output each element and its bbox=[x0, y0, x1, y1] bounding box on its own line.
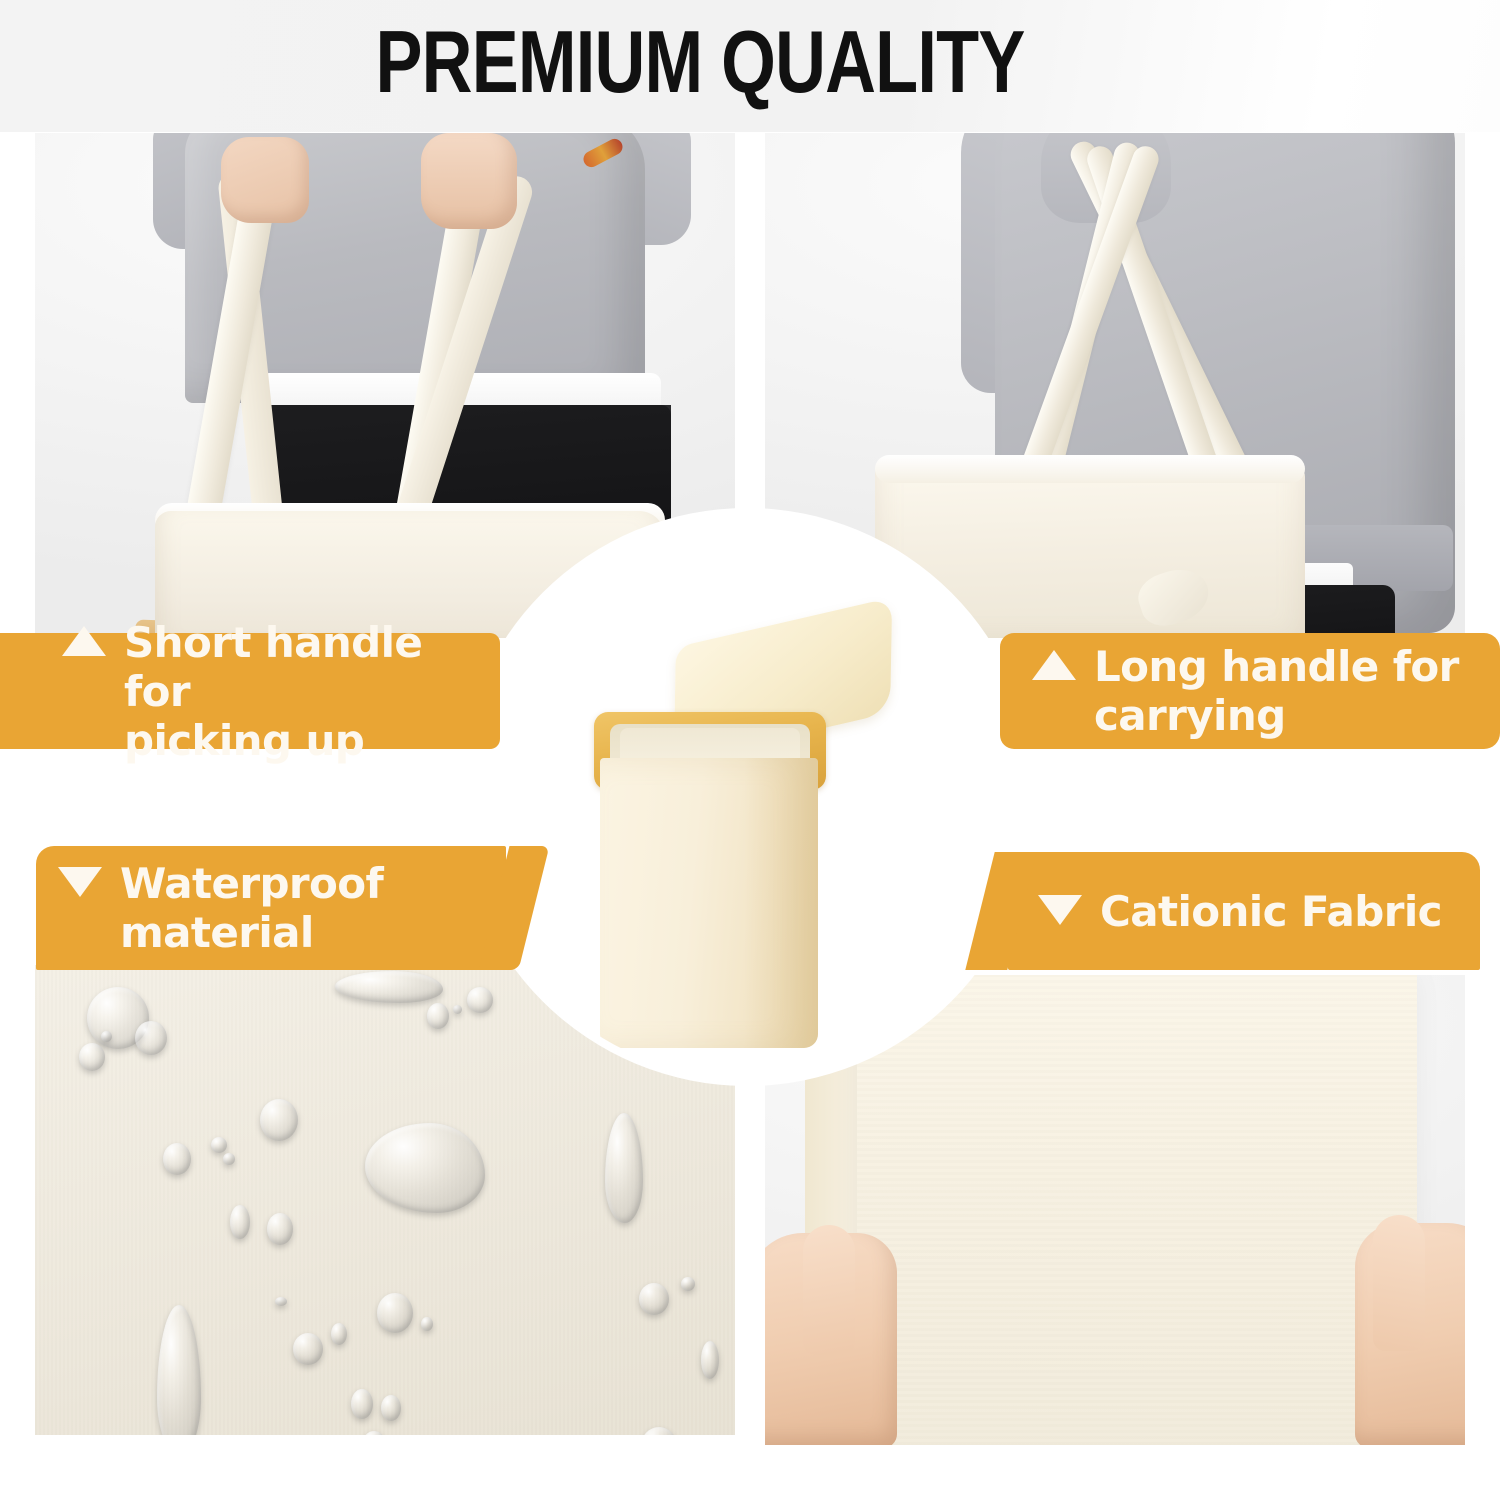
triangle-down-icon bbox=[1038, 895, 1082, 925]
water-droplet bbox=[101, 1031, 112, 1042]
hamper-body-shading bbox=[744, 758, 818, 1048]
feature-banner-short-handle: Short handle for picking up bbox=[0, 633, 500, 749]
water-droplet bbox=[377, 1293, 413, 1333]
feature-label-waterproof: Waterproof material bbox=[120, 859, 383, 957]
feature-label-long-handle: Long handle for carrying bbox=[1094, 642, 1459, 740]
feature-banner-waterproof: Waterproof material bbox=[36, 846, 506, 970]
water-droplet bbox=[135, 1021, 167, 1055]
infographic-page: PREMIUM QUALITY bbox=[0, 0, 1500, 1500]
hamper-fabric-top-edge bbox=[875, 455, 1305, 483]
triangle-down-icon bbox=[58, 867, 102, 897]
model-right-thumb bbox=[1373, 1215, 1425, 1351]
water-droplet bbox=[223, 1153, 235, 1165]
feature-label-short-handle: Short handle for picking up bbox=[124, 618, 500, 765]
water-droplet bbox=[293, 1333, 323, 1365]
water-droplet bbox=[275, 1297, 287, 1306]
water-droplet bbox=[421, 1317, 433, 1331]
laundry-hamper bbox=[594, 634, 826, 1034]
water-droplet bbox=[211, 1137, 227, 1153]
product-hero-circle bbox=[466, 516, 1028, 1078]
water-droplet bbox=[681, 1277, 695, 1291]
page-title: PREMIUM QUALITY bbox=[140, 14, 1260, 110]
water-droplet bbox=[701, 1341, 719, 1379]
water-droplet bbox=[230, 1205, 250, 1239]
water-droplet bbox=[351, 1389, 373, 1419]
feature-banner-cationic-fabric: Cationic Fabric bbox=[1008, 852, 1480, 970]
model-right-hand bbox=[421, 133, 517, 229]
triangle-up-icon bbox=[62, 626, 106, 656]
water-droplet bbox=[331, 1323, 347, 1345]
water-droplet bbox=[79, 1043, 105, 1071]
triangle-up-icon bbox=[1032, 650, 1076, 680]
model-left-hand bbox=[221, 137, 309, 223]
model-left-thumb bbox=[803, 1225, 855, 1355]
cationic-fabric-sheet bbox=[857, 975, 1417, 1445]
water-droplet bbox=[260, 1099, 298, 1141]
water-droplet bbox=[467, 987, 493, 1013]
water-droplet bbox=[163, 1143, 191, 1175]
water-droplet bbox=[639, 1283, 669, 1315]
title-bar: PREMIUM QUALITY bbox=[0, 0, 1500, 132]
water-droplet bbox=[427, 1003, 449, 1029]
water-droplet bbox=[267, 1213, 293, 1245]
feature-label-cationic-fabric: Cationic Fabric bbox=[1100, 887, 1442, 936]
feature-banner-long-handle: Long handle for carrying bbox=[1000, 633, 1500, 749]
water-droplet bbox=[453, 1005, 462, 1014]
water-droplet bbox=[381, 1395, 401, 1421]
